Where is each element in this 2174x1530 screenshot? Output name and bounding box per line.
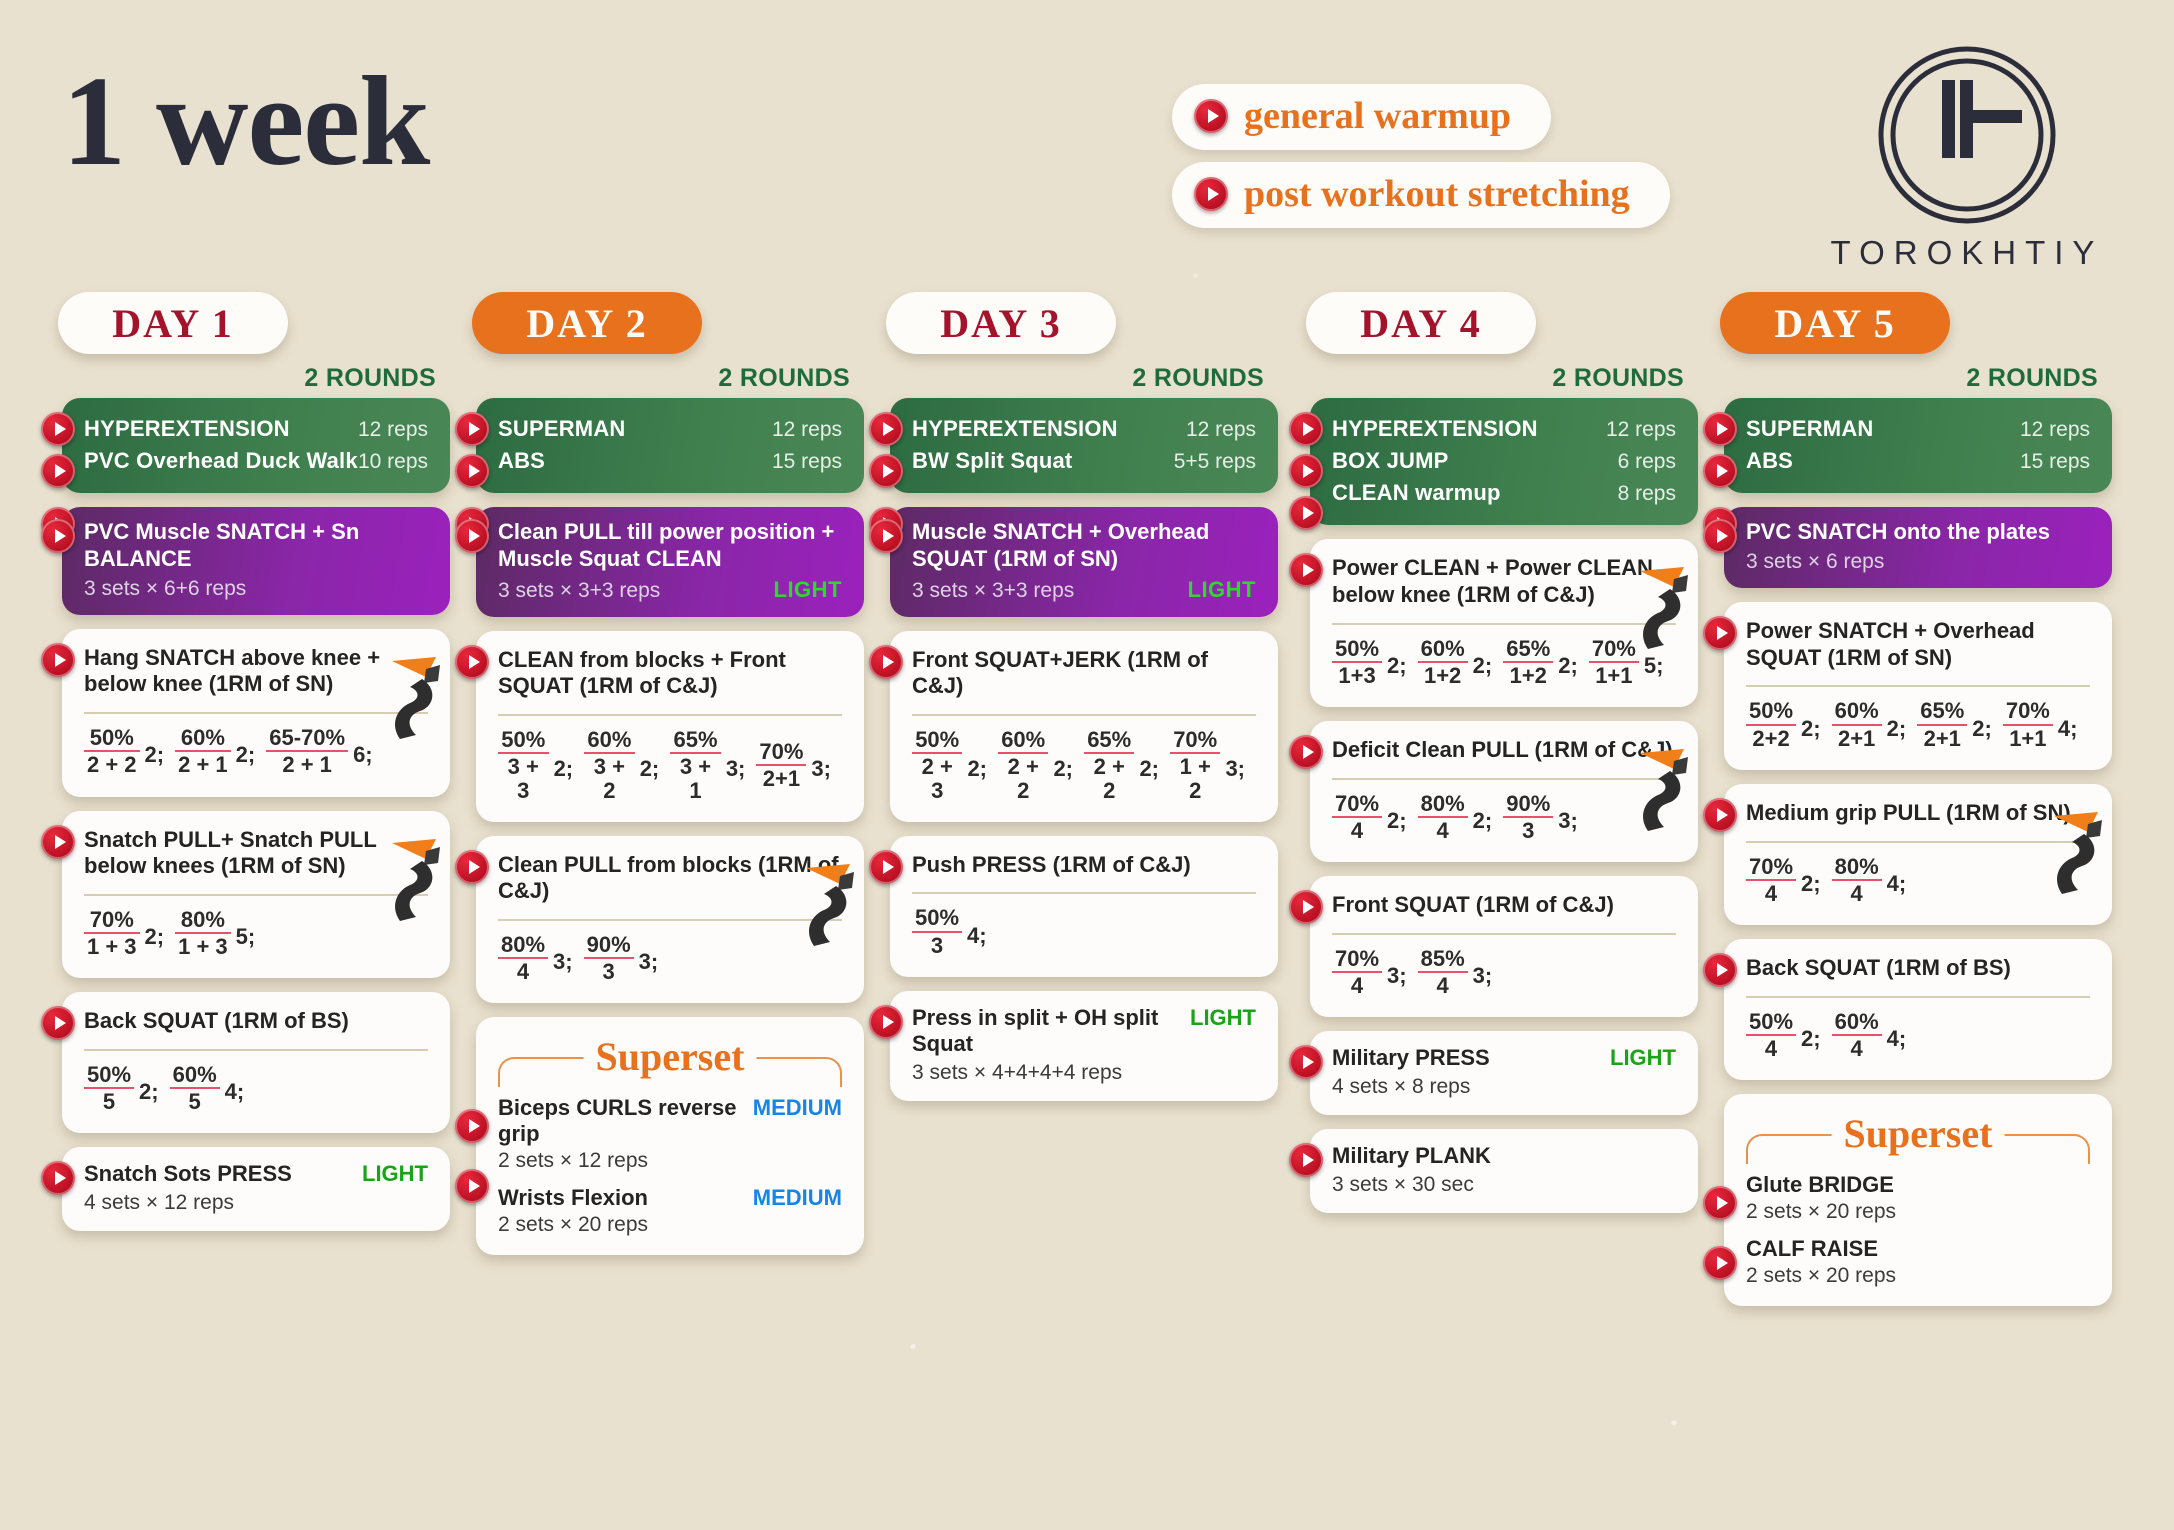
- play-icon[interactable]: [869, 454, 903, 488]
- loading-step: 70% 1 + 3 2;: [84, 908, 171, 958]
- superset-exercise-sets: 2 sets × 12 reps: [498, 1149, 842, 1173]
- sets-count: 2;: [967, 756, 987, 782]
- divider: [1746, 685, 2090, 687]
- warmup-row[interactable]: ABS 15 reps: [1746, 448, 2090, 474]
- play-icon[interactable]: [455, 454, 489, 488]
- day-header-3[interactable]: DAY 3: [886, 292, 1116, 354]
- exercise-card: Military PRESSLIGHT 4 sets × 8 reps: [1310, 1031, 1698, 1115]
- sets-count: 4;: [2058, 716, 2078, 742]
- prep-card: Clean PULL till power position + Muscle …: [476, 507, 864, 617]
- play-icon[interactable]: [1289, 412, 1323, 446]
- play-icon[interactable]: [1289, 1045, 1323, 1079]
- reps-value: 2 + 2: [998, 752, 1048, 801]
- exercise-block: Snatch Sots PRESSLIGHT 4 sets × 12 reps: [50, 1147, 450, 1231]
- loading-step: 65% 2+1 2;: [1917, 699, 1999, 749]
- sets-count: 2;: [1801, 716, 1821, 742]
- superset-label: Superset: [584, 1033, 757, 1080]
- divider: [84, 894, 428, 896]
- reps-value: 3: [584, 957, 634, 983]
- exercise-title: Hang SNATCH above knee + below knee (1RM…: [84, 645, 428, 699]
- sets-count: 3;: [639, 949, 659, 975]
- percent-value: 65%: [1084, 728, 1134, 752]
- play-icon[interactable]: [869, 412, 903, 446]
- exercise-block: Front SQUAT (1RM of C&J) 70% 4 3; 85% 4 …: [1298, 876, 1698, 1017]
- exercise-title: Deficit Clean PULL (1RM of C&J): [1332, 737, 1676, 764]
- superset-item[interactable]: Biceps CURLS reverse gripMEDIUM 2 sets ×…: [498, 1095, 842, 1173]
- loading-step: 65% 3 + 1 3;: [670, 728, 752, 801]
- play-bullets: [41, 1006, 75, 1048]
- play-bullets: [1703, 798, 1737, 840]
- reps-value: 3 + 1: [670, 752, 721, 801]
- rounds-label: 2 ROUNDS: [50, 364, 436, 393]
- superset-header: Superset: [498, 1031, 842, 1083]
- percent-reps-fraction: 50% 2 + 2: [84, 726, 140, 776]
- divider: [912, 714, 1256, 716]
- exercise-block: Military PRESSLIGHT 4 sets × 8 reps: [1298, 1031, 1698, 1115]
- exercise-title: Clean PULL from blocks (1RM of C&J): [498, 852, 842, 906]
- play-bullets: [41, 825, 75, 867]
- barbell-icon: [800, 862, 858, 948]
- exercise-card: Push PRESS (1RM of C&J) 50% 3 4;: [890, 836, 1278, 977]
- torokhtiy-circle-icon: [1876, 44, 2058, 226]
- percent-value: 70%: [1332, 792, 1382, 816]
- day-column-4: DAY 42 ROUNDS HYPEREXTENSION 12 reps BOX…: [1298, 292, 1698, 1227]
- percent-reps-fraction: 60% 5: [170, 1063, 220, 1113]
- play-icon[interactable]: [1289, 890, 1323, 924]
- play-icon[interactable]: [41, 412, 75, 446]
- sets-count: 3;: [811, 756, 831, 782]
- rounds-label: 2 ROUNDS: [1712, 364, 2098, 393]
- barbell-icon: [1634, 565, 1692, 651]
- loading-step: 70% 1 + 2 3;: [1170, 728, 1252, 801]
- superset-card: Superset Glute BRIDGE 2 sets × 20 reps C…: [1724, 1094, 2112, 1306]
- play-icon[interactable]: [1703, 1246, 1737, 1280]
- warmup-row[interactable]: SUPERMAN 12 reps: [1746, 416, 2090, 442]
- exercise-block: Medium grip PULL (1RM of SN) 70% 4 2; 80…: [1712, 784, 2112, 925]
- play-icon[interactable]: [455, 1169, 489, 1203]
- post-workout-stretching-badge[interactable]: post workout stretching: [1172, 162, 1670, 228]
- loading-scheme: 80% 4 3; 90% 3 3;: [498, 933, 842, 985]
- intensity-tag: LIGHT: [774, 577, 843, 603]
- prep-title: PVC SNATCH onto the plates: [1746, 519, 2090, 546]
- loading-step: 60% 1+2 2;: [1418, 637, 1500, 687]
- warmup-row[interactable]: ABS 15 reps: [498, 448, 842, 474]
- warmup-row[interactable]: PVC Overhead Duck Walk 10 reps: [84, 448, 428, 474]
- warmup-block: HYPEREXTENSION 12 reps BOX JUMP 6 reps C…: [1298, 398, 1698, 525]
- percent-reps-fraction: 90% 3: [584, 933, 634, 983]
- percent-value: 70%: [756, 740, 806, 764]
- reps-value: 2+2: [1746, 724, 1796, 750]
- play-icon[interactable]: [41, 519, 75, 553]
- loading-scheme: 50% 3 4;: [912, 906, 1256, 958]
- play-icon[interactable]: [1289, 496, 1323, 530]
- percent-reps-fraction: 70% 2+1: [756, 740, 806, 790]
- rounds-label: 2 ROUNDS: [464, 364, 850, 393]
- percent-value: 70%: [1746, 855, 1796, 879]
- play-icon[interactable]: [1289, 1143, 1323, 1177]
- reps-value: 1+2: [1418, 661, 1468, 687]
- exercise-card: Clean PULL from blocks (1RM of C&J) 80% …: [476, 836, 864, 1004]
- superset-exercise-sets: 2 sets × 20 reps: [1746, 1264, 2090, 1288]
- warmup-card: HYPEREXTENSION 12 reps BOX JUMP 6 reps C…: [1310, 398, 1698, 525]
- exercise-block: Power SNATCH + Overhead SQUAT (1RM of SN…: [1712, 602, 2112, 770]
- sets-count: 2;: [145, 924, 165, 950]
- percent-value: 65%: [1917, 699, 1967, 723]
- percent-reps-fraction: 80% 1 + 3: [175, 908, 231, 958]
- intensity-tag: MEDIUM: [753, 1095, 842, 1121]
- day-header-2[interactable]: DAY 2: [472, 292, 702, 354]
- percent-reps-fraction: 65% 1+2: [1503, 637, 1553, 687]
- warmup-block: HYPEREXTENSION 12 reps PVC Overhead Duck…: [50, 398, 450, 493]
- exercise-block: Military PLANK 3 sets × 30 sec: [1298, 1129, 1698, 1213]
- exercise-card: Medium grip PULL (1RM of SN) 70% 4 2; 80…: [1724, 784, 2112, 925]
- sets-count: 3;: [1473, 963, 1493, 989]
- reps-value: 2 + 1: [175, 750, 231, 776]
- reps-value: 3: [912, 931, 962, 957]
- sets-count: 2;: [1139, 756, 1159, 782]
- loading-scheme: 50% 5 2; 60% 5 4;: [84, 1063, 428, 1115]
- percent-value: 50%: [912, 728, 962, 752]
- warmup-row[interactable]: BOX JUMP 6 reps: [1332, 448, 1676, 474]
- loading-step: 70% 2+1 3;: [756, 740, 838, 790]
- play-icon[interactable]: [1703, 1186, 1737, 1220]
- percent-value: 60%: [584, 728, 635, 752]
- sets-count: 2;: [1387, 808, 1407, 834]
- exercise-block: Power CLEAN + Power CLEAN below knee (1R…: [1298, 539, 1698, 707]
- reps-value: 4: [1746, 1034, 1796, 1060]
- exercise-card: Back SQUAT (1RM of BS) 50% 5 2; 60% 5 4;: [62, 992, 450, 1133]
- loading-scheme: 70% 4 2; 80% 4 2; 90% 3 3;: [1332, 792, 1676, 844]
- day-header-5[interactable]: DAY 5: [1720, 292, 1950, 354]
- reps-value: 4: [1746, 879, 1796, 905]
- play-bullets: [1703, 1186, 1737, 1288]
- play-icon[interactable]: [41, 1006, 75, 1040]
- loading-scheme: 50% 2+2 2; 60% 2+1 2; 65% 2+1 2; 70% 1+1…: [1746, 699, 2090, 751]
- percent-reps-fraction: 70% 4: [1332, 792, 1382, 842]
- prep-card: Muscle SNATCH + Overhead SQUAT (1RM of S…: [890, 507, 1278, 617]
- exercise-card: Snatch PULL+ Snatch PULL below knees (1R…: [62, 811, 450, 979]
- play-icon[interactable]: [41, 454, 75, 488]
- play-icon[interactable]: [41, 643, 75, 677]
- exercise-block: Front SQUAT+JERK (1RM of C&J) 50% 2 + 3 …: [878, 631, 1278, 822]
- exercise-card: Hang SNATCH above knee + below knee (1RM…: [62, 629, 450, 797]
- percent-value: 70%: [1170, 728, 1220, 752]
- superset-item[interactable]: CALF RAISE 2 sets × 20 reps: [1746, 1236, 2090, 1288]
- play-icon[interactable]: [869, 519, 903, 553]
- exercise-title: Snatch Sots PRESSLIGHT: [84, 1161, 428, 1188]
- warmup-row[interactable]: HYPEREXTENSION 12 reps: [1332, 416, 1676, 442]
- play-icon[interactable]: [455, 1109, 489, 1143]
- prep-block: Muscle SNATCH + Overhead SQUAT (1RM of S…: [878, 507, 1278, 617]
- barbell-icon: [386, 655, 444, 741]
- play-icon[interactable]: [1194, 99, 1228, 133]
- exercise-card: Front SQUAT+JERK (1RM of C&J) 50% 2 + 3 …: [890, 631, 1278, 822]
- superset-exercise-sets: 2 sets × 20 reps: [1746, 1200, 2090, 1224]
- superset-item[interactable]: Wrists FlexionMEDIUM 2 sets × 20 reps: [498, 1185, 842, 1237]
- play-icon[interactable]: [1289, 454, 1323, 488]
- exercise-block: Hang SNATCH above knee + below knee (1RM…: [50, 629, 450, 797]
- reps-value: 4: [1332, 971, 1382, 997]
- loading-step: 50% 2 + 2 2;: [84, 726, 171, 776]
- warmup-row[interactable]: SUPERMAN 12 reps: [498, 416, 842, 442]
- warmup-row[interactable]: BW Split Squat 5+5 reps: [912, 448, 1256, 474]
- play-icon[interactable]: [869, 645, 903, 679]
- reps-value: 5: [170, 1087, 220, 1113]
- exercise-title: Press in split + OH split SquatLIGHT: [912, 1005, 1256, 1059]
- play-bullets: [1703, 953, 1737, 995]
- sets-count: 4;: [1887, 871, 1907, 897]
- percent-value: 60%: [1832, 699, 1882, 723]
- play-icon[interactable]: [1703, 616, 1737, 650]
- percent-reps-fraction: 60% 2 + 2: [998, 728, 1048, 801]
- exercise-title: Power CLEAN + Power CLEAN below knee (1R…: [1332, 555, 1676, 609]
- loading-step: 65% 2 + 2 2;: [1084, 728, 1166, 801]
- loading-scheme: 50% 2 + 3 2; 60% 2 + 2 2; 65% 2 + 2 2; 7…: [912, 728, 1256, 803]
- sets-count: 2;: [1473, 653, 1493, 679]
- sets-count: 2;: [1887, 716, 1907, 742]
- play-icon[interactable]: [1703, 412, 1737, 446]
- play-bullets: [1703, 519, 1737, 561]
- play-bullets: [1289, 412, 1323, 538]
- divider: [1332, 933, 1676, 935]
- percent-reps-fraction: 70% 1 + 2: [1170, 728, 1220, 801]
- percent-value: 60%: [998, 728, 1048, 752]
- percent-value: 80%: [1418, 792, 1468, 816]
- play-bullets: [869, 1005, 903, 1047]
- warmup-exercise-reps: 12 reps: [2020, 418, 2090, 442]
- sets-count: 2;: [139, 1079, 159, 1105]
- reps-value: 1 + 2: [1170, 752, 1220, 801]
- exercise-block: Clean PULL from blocks (1RM of C&J) 80% …: [464, 836, 864, 1004]
- percent-reps-fraction: 60% 4: [1832, 1010, 1882, 1060]
- rounds-label: 2 ROUNDS: [1298, 364, 1684, 393]
- reps-value: 3 + 3: [498, 752, 549, 801]
- warmup-exercise-name: PVC Overhead Duck Walk: [84, 448, 358, 474]
- play-icon[interactable]: [1194, 177, 1228, 211]
- play-icon[interactable]: [1703, 798, 1737, 832]
- play-bullets: [455, 1109, 489, 1211]
- prep-block: PVC Muscle SNATCH + Sn BALANCE 3 sets × …: [50, 507, 450, 615]
- sets-count: 2;: [1053, 756, 1073, 782]
- general-warmup-label: general warmup: [1244, 94, 1511, 138]
- divider: [498, 714, 842, 716]
- loading-step: 60% 4 4;: [1832, 1010, 1914, 1060]
- percent-reps-fraction: 65% 3 + 1: [670, 728, 721, 801]
- brand-wordmark: TOROKHTIY: [1822, 234, 2112, 272]
- loading-scheme: 70% 4 3; 85% 4 3;: [1332, 947, 1676, 999]
- barbell-icon: [1634, 747, 1692, 833]
- percent-reps-fraction: 60% 2 + 1: [175, 726, 231, 776]
- percent-value: 65%: [1503, 637, 1553, 661]
- sets-count: 3;: [553, 949, 573, 975]
- exercise-title: Back SQUAT (1RM of BS): [84, 1008, 428, 1035]
- divider: [498, 919, 842, 921]
- reps-value: 4: [1418, 816, 1468, 842]
- reps-value: 2 + 1: [266, 750, 348, 776]
- loading-scheme: 50% 3 + 3 2; 60% 3 + 2 2; 65% 3 + 1 3; 7…: [498, 728, 842, 803]
- percent-value: 50%: [1746, 1010, 1796, 1034]
- loading-step: 65-70% 2 + 1 6;: [266, 726, 379, 776]
- loading-step: 80% 4 4;: [1832, 855, 1914, 905]
- exercise-title: Front SQUAT (1RM of C&J): [1332, 892, 1676, 919]
- percent-reps-fraction: 60% 1+2: [1418, 637, 1468, 687]
- sets-count: 4;: [1887, 1026, 1907, 1052]
- warmup-card: SUPERMAN 12 reps ABS 15 reps: [476, 398, 864, 493]
- superset-item[interactable]: Glute BRIDGE 2 sets × 20 reps: [1746, 1172, 2090, 1224]
- play-bullets: [869, 412, 903, 496]
- divider: [1332, 778, 1676, 780]
- loading-scheme: 50% 1+3 2; 60% 1+2 2; 65% 1+2 2; 70% 1+1…: [1332, 637, 1676, 689]
- play-icon[interactable]: [41, 1161, 75, 1195]
- percent-value: 90%: [584, 933, 634, 957]
- percent-reps-fraction: 50% 4: [1746, 1010, 1796, 1060]
- play-bullets: [455, 645, 489, 687]
- exercise-title: Military PRESSLIGHT: [1332, 1045, 1676, 1072]
- loading-step: 60% 2 + 2 2;: [998, 728, 1080, 801]
- loading-step: 50% 4 2;: [1746, 1010, 1828, 1060]
- divider: [84, 712, 428, 714]
- loading-step: 65% 1+2 2;: [1503, 637, 1585, 687]
- play-icon[interactable]: [41, 825, 75, 859]
- percent-reps-fraction: 60% 3 + 2: [584, 728, 635, 801]
- day-column-2: DAY 22 ROUNDS SUPERMAN 12 reps ABS 15 re…: [464, 292, 864, 1269]
- sets-count: 2;: [554, 756, 574, 782]
- superset-exercise-name: Wrists FlexionMEDIUM: [498, 1185, 842, 1211]
- percent-reps-fraction: 70% 4: [1332, 947, 1382, 997]
- loading-step: 70% 1+1 4;: [2003, 699, 2085, 749]
- page-title: 1 week: [62, 48, 429, 195]
- warmup-exercise-name: SUPERMAN: [498, 416, 626, 442]
- percent-value: 70%: [1332, 947, 1382, 971]
- warmup-row[interactable]: HYPEREXTENSION 12 reps: [912, 416, 1256, 442]
- reps-value: 4: [498, 957, 548, 983]
- exercise-card: Press in split + OH split SquatLIGHT 3 s…: [890, 991, 1278, 1102]
- warmup-card: HYPEREXTENSION 12 reps PVC Overhead Duck…: [62, 398, 450, 493]
- play-icon[interactable]: [1289, 553, 1323, 587]
- reps-value: 1+2: [1503, 661, 1553, 687]
- play-icon[interactable]: [869, 850, 903, 884]
- percent-value: 65%: [670, 728, 721, 752]
- play-bullets: [41, 519, 75, 561]
- superset-card: Superset Biceps CURLS reverse gripMEDIUM…: [476, 1017, 864, 1255]
- divider: [1746, 841, 2090, 843]
- superset-block: Superset Biceps CURLS reverse gripMEDIUM…: [464, 1017, 864, 1255]
- exercise-title: Snatch PULL+ Snatch PULL below knees (1R…: [84, 827, 428, 881]
- superset-exercise-sets: 2 sets × 20 reps: [498, 1213, 842, 1237]
- sets-count: 2;: [640, 756, 660, 782]
- general-warmup-badge[interactable]: general warmup: [1172, 84, 1551, 150]
- intensity-tag: LIGHT: [1610, 1045, 1676, 1072]
- percent-reps-fraction: 50% 5: [84, 1063, 134, 1113]
- exercise-block: Back SQUAT (1RM of BS) 50% 4 2; 60% 4 4;: [1712, 939, 2112, 1080]
- loading-step: 60% 2+1 2;: [1832, 699, 1914, 749]
- sets-count: 3;: [1387, 963, 1407, 989]
- reps-value: 3: [1503, 816, 1553, 842]
- loading-step: 60% 2 + 1 2;: [175, 726, 262, 776]
- warmup-exercise-reps: 6 reps: [1618, 450, 1676, 474]
- play-bullets: [41, 412, 75, 496]
- loading-step: 80% 1 + 3 5;: [175, 908, 262, 958]
- play-icon[interactable]: [1703, 519, 1737, 553]
- percent-reps-fraction: 65% 2 + 2: [1084, 728, 1134, 801]
- reps-value: 2 + 3: [912, 752, 962, 801]
- percent-value: 85%: [1418, 947, 1468, 971]
- percent-value: 80%: [175, 908, 231, 932]
- warmup-badge-group: general warmup post workout stretching: [1172, 84, 1670, 240]
- play-icon[interactable]: [455, 645, 489, 679]
- sets-count: 5;: [236, 924, 256, 950]
- play-icon[interactable]: [455, 519, 489, 553]
- percent-value: 50%: [1332, 637, 1382, 661]
- sets-count: 3;: [1225, 756, 1245, 782]
- percent-reps-fraction: 90% 3: [1503, 792, 1553, 842]
- percent-value: 50%: [84, 1063, 134, 1087]
- warmup-row[interactable]: CLEAN warmup 8 reps: [1332, 480, 1676, 506]
- exercise-title: Power SNATCH + Overhead SQUAT (1RM of SN…: [1746, 618, 2090, 672]
- percent-reps-fraction: 80% 4: [1832, 855, 1882, 905]
- warmup-exercise-name: HYPEREXTENSION: [84, 416, 290, 442]
- exercise-card: CLEAN from blocks + Front SQUAT (1RM of …: [476, 631, 864, 822]
- prep-sets: 3 sets × 6 reps: [1746, 550, 1884, 574]
- reps-value: 1+1: [2003, 724, 2053, 750]
- play-icon[interactable]: [455, 412, 489, 446]
- play-icon[interactable]: [455, 850, 489, 884]
- percent-reps-fraction: 70% 1+1: [1589, 637, 1639, 687]
- percent-value: 50%: [84, 726, 140, 750]
- play-bullets: [41, 1161, 75, 1203]
- play-icon[interactable]: [1703, 953, 1737, 987]
- warmup-block: SUPERMAN 12 reps ABS 15 reps: [464, 398, 864, 493]
- percent-value: 70%: [2003, 699, 2053, 723]
- day-header-4[interactable]: DAY 4: [1306, 292, 1536, 354]
- percent-value: 50%: [498, 728, 549, 752]
- play-icon[interactable]: [1289, 735, 1323, 769]
- warmup-row[interactable]: HYPEREXTENSION 12 reps: [84, 416, 428, 442]
- percent-value: 60%: [1832, 1010, 1882, 1034]
- sets-count: 2;: [1387, 653, 1407, 679]
- sets-count: 3;: [1558, 808, 1578, 834]
- percent-reps-fraction: 50% 3 + 3: [498, 728, 549, 801]
- warmup-exercise-reps: 10 reps: [358, 450, 428, 474]
- play-bullets: [41, 643, 75, 685]
- sets-count: 2;: [236, 742, 256, 768]
- percent-value: 70%: [1589, 637, 1639, 661]
- exercise-card: Deficit Clean PULL (1RM of C&J) 70% 4 2;…: [1310, 721, 1698, 862]
- play-bullets: [1289, 553, 1323, 595]
- percent-value: 60%: [175, 726, 231, 750]
- warmup-exercise-reps: 12 reps: [358, 418, 428, 442]
- play-icon[interactable]: [869, 1005, 903, 1039]
- exercise-card: Back SQUAT (1RM of BS) 50% 4 2; 60% 4 4;: [1724, 939, 2112, 1080]
- day-header-1[interactable]: DAY 1: [58, 292, 288, 354]
- play-icon[interactable]: [1703, 454, 1737, 488]
- percent-reps-fraction: 50% 2 + 3: [912, 728, 962, 801]
- intensity-tag: LIGHT: [362, 1161, 428, 1188]
- percent-value: 80%: [498, 933, 548, 957]
- sets-count: 6;: [353, 742, 373, 768]
- sets-count: 3;: [726, 756, 746, 782]
- reps-value: 1+3: [1332, 661, 1382, 687]
- intensity-tag: LIGHT: [1188, 577, 1257, 603]
- divider: [1332, 623, 1676, 625]
- percent-reps-fraction: 85% 4: [1418, 947, 1468, 997]
- exercise-sets: 4 sets × 12 reps: [84, 1191, 428, 1215]
- percent-reps-fraction: 50% 1+3: [1332, 637, 1382, 687]
- loading-step: 60% 5 4;: [170, 1063, 252, 1113]
- exercise-block: Deficit Clean PULL (1RM of C&J) 70% 4 2;…: [1298, 721, 1698, 862]
- day-column-3: DAY 32 ROUNDS HYPEREXTENSION 12 reps BW …: [878, 292, 1278, 1115]
- loading-step: 50% 2 + 3 2;: [912, 728, 994, 801]
